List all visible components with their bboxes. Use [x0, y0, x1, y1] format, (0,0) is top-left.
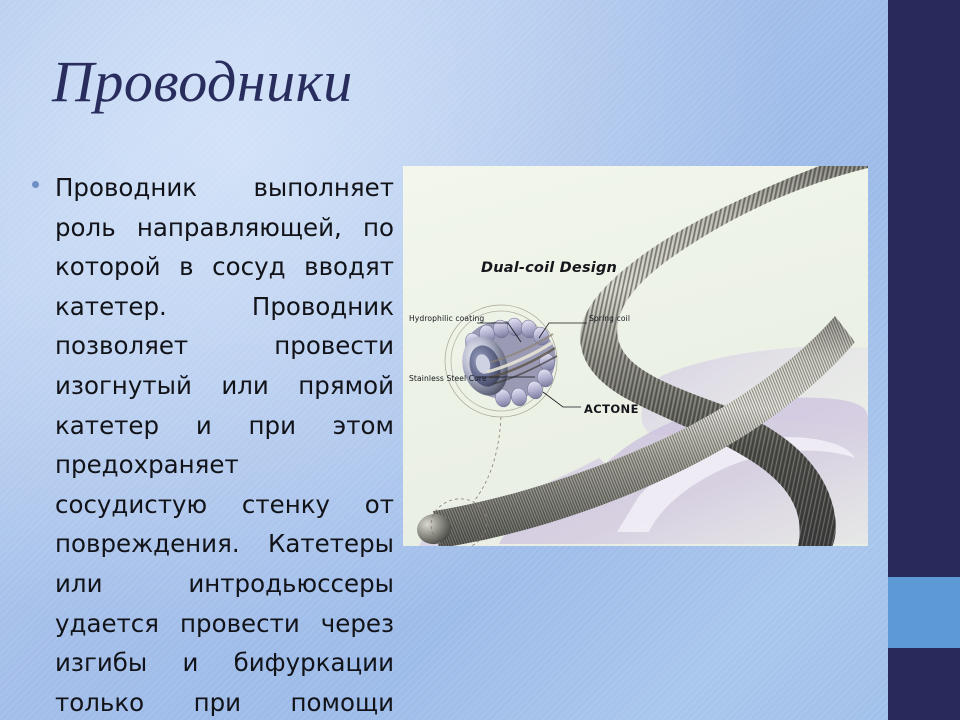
label-actone: ACTONE	[584, 402, 639, 416]
label-spring-coil: Spring coil	[589, 314, 630, 323]
body-text-block: Проводник выполняет роль направляющей, п…	[28, 168, 394, 720]
list-item: Проводник выполняет роль направляющей, п…	[28, 168, 394, 720]
rail-segment-dark-top	[888, 0, 960, 577]
guidewire-image: Dual-coil Design Hydrophilic coating Spr…	[403, 166, 868, 546]
page-title: Проводники	[52, 52, 353, 113]
bullet-text: Проводник выполняет роль направляющей, п…	[55, 168, 394, 720]
rail-segment-dark-bottom	[888, 648, 960, 720]
slide: Проводники Проводник выполняет роль напр…	[0, 0, 960, 720]
picture-caption: Dual-coil Design	[481, 260, 617, 276]
decorative-rail	[888, 0, 960, 720]
guidewire-illustration	[403, 166, 868, 546]
bullet-dot-icon	[32, 181, 39, 188]
rail-segment-accent	[888, 577, 960, 648]
label-stainless-steel-core: Stainless Steel Core	[409, 374, 487, 383]
label-hydrophilic-coating: Hydrophilic coating	[409, 314, 484, 323]
